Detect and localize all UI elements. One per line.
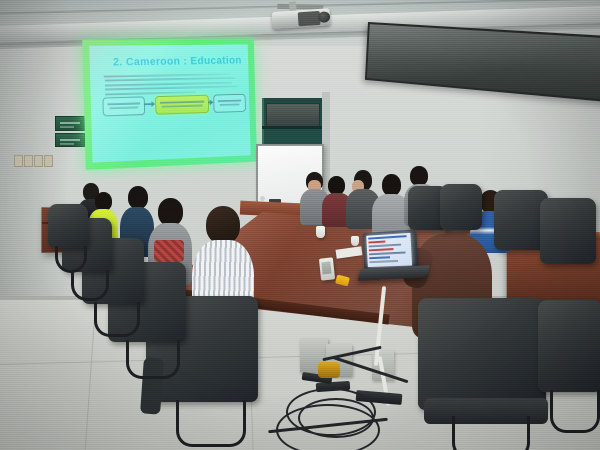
door-divider (262, 126, 324, 129)
chair-foreground-right[interactable] (418, 298, 558, 450)
open-laptop[interactable] (361, 229, 430, 282)
wall-sockets (14, 155, 54, 167)
screen-sheen (82, 39, 257, 170)
chair-left-5[interactable] (48, 204, 94, 274)
chair-right-3[interactable] (538, 300, 600, 450)
projection-screen: 2. Cameroon : Education (82, 39, 257, 170)
paper-cup-2 (351, 236, 359, 246)
chair-right-2[interactable] (540, 198, 600, 294)
white-device-screen (321, 262, 331, 275)
cable-junction (318, 362, 340, 378)
conference-room-photo: 2. Cameroon : Education (0, 0, 600, 450)
door-transom-window (266, 103, 320, 127)
projector-shadow (298, 11, 321, 27)
paper-cup (316, 226, 325, 238)
laptop-screen (366, 233, 412, 267)
laptop-keyboard-base (358, 265, 431, 281)
whiteboard-magnet-icon (260, 196, 265, 201)
ceiling-projector (267, 2, 341, 33)
chair-far-2[interactable] (440, 184, 486, 244)
